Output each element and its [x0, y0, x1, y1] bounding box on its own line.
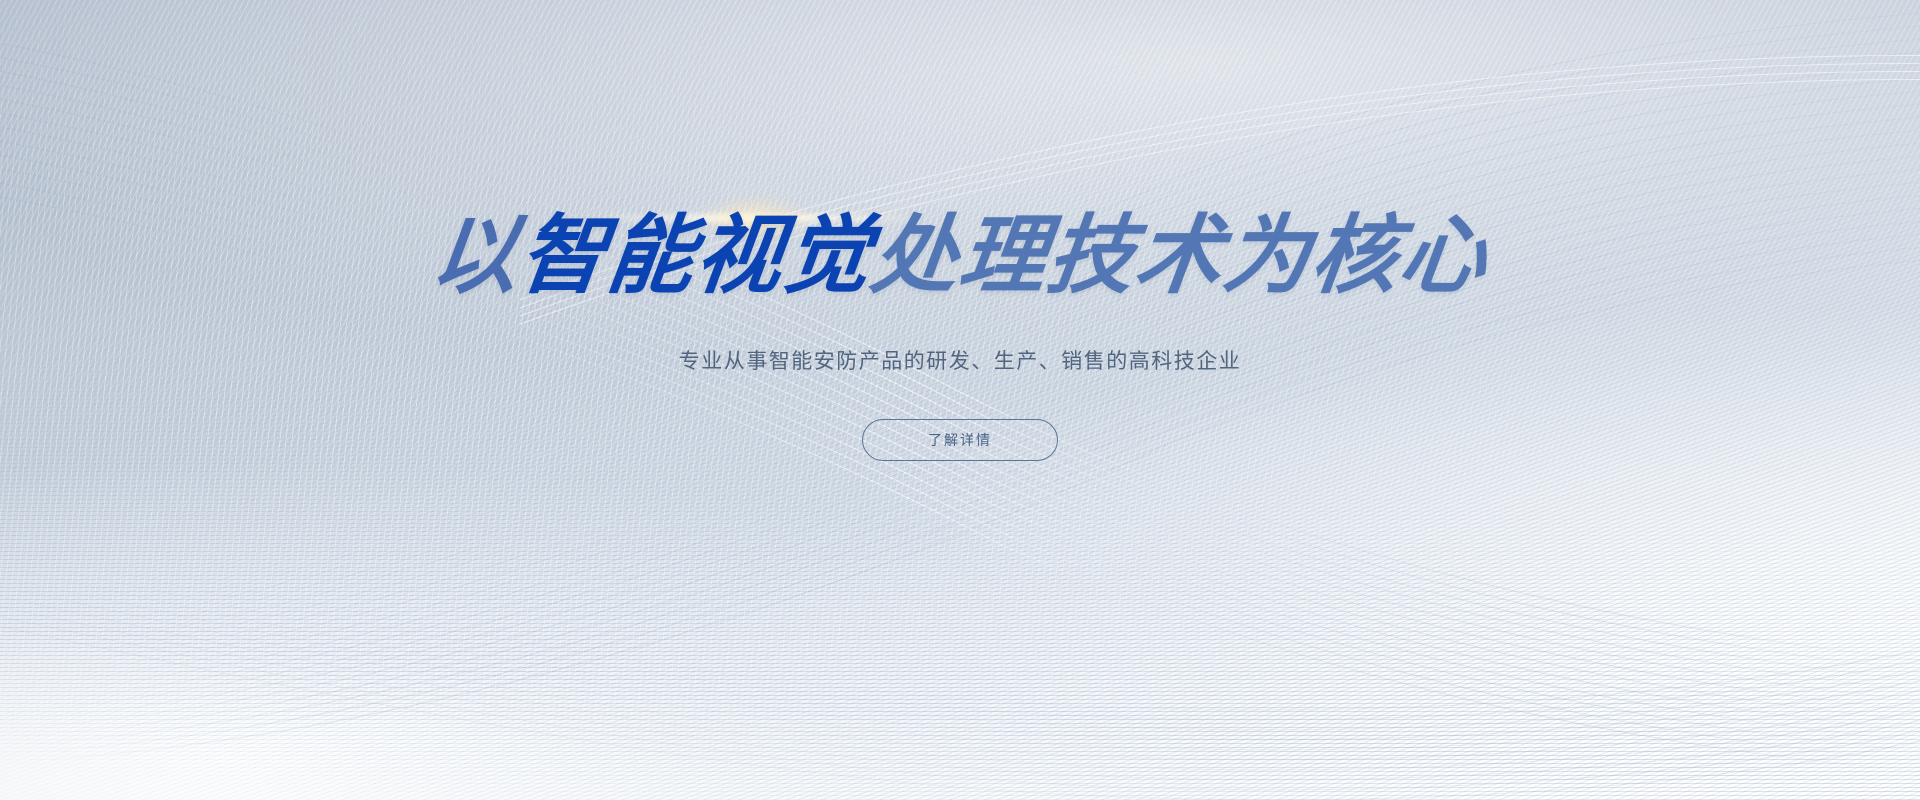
- hero-headline: 以智能视觉处理技术为核心: [426, 210, 1493, 303]
- headline-segment-tail: 处理技术为核心: [866, 208, 1494, 304]
- headline-segment-lead: 以: [426, 208, 526, 304]
- headline-segment-accent: 智能视觉: [514, 208, 878, 304]
- hero-banner: 以智能视觉处理技术为核心 专业从事智能安防产品的研发、生产、销售的高科技企业 了…: [0, 0, 1920, 800]
- hero-content: 以智能视觉处理技术为核心 专业从事智能安防产品的研发、生产、销售的高科技企业 了…: [0, 0, 1920, 800]
- hero-subtitle: 专业从事智能安防产品的研发、生产、销售的高科技企业: [679, 345, 1242, 375]
- learn-more-button[interactable]: 了解详情: [862, 419, 1058, 461]
